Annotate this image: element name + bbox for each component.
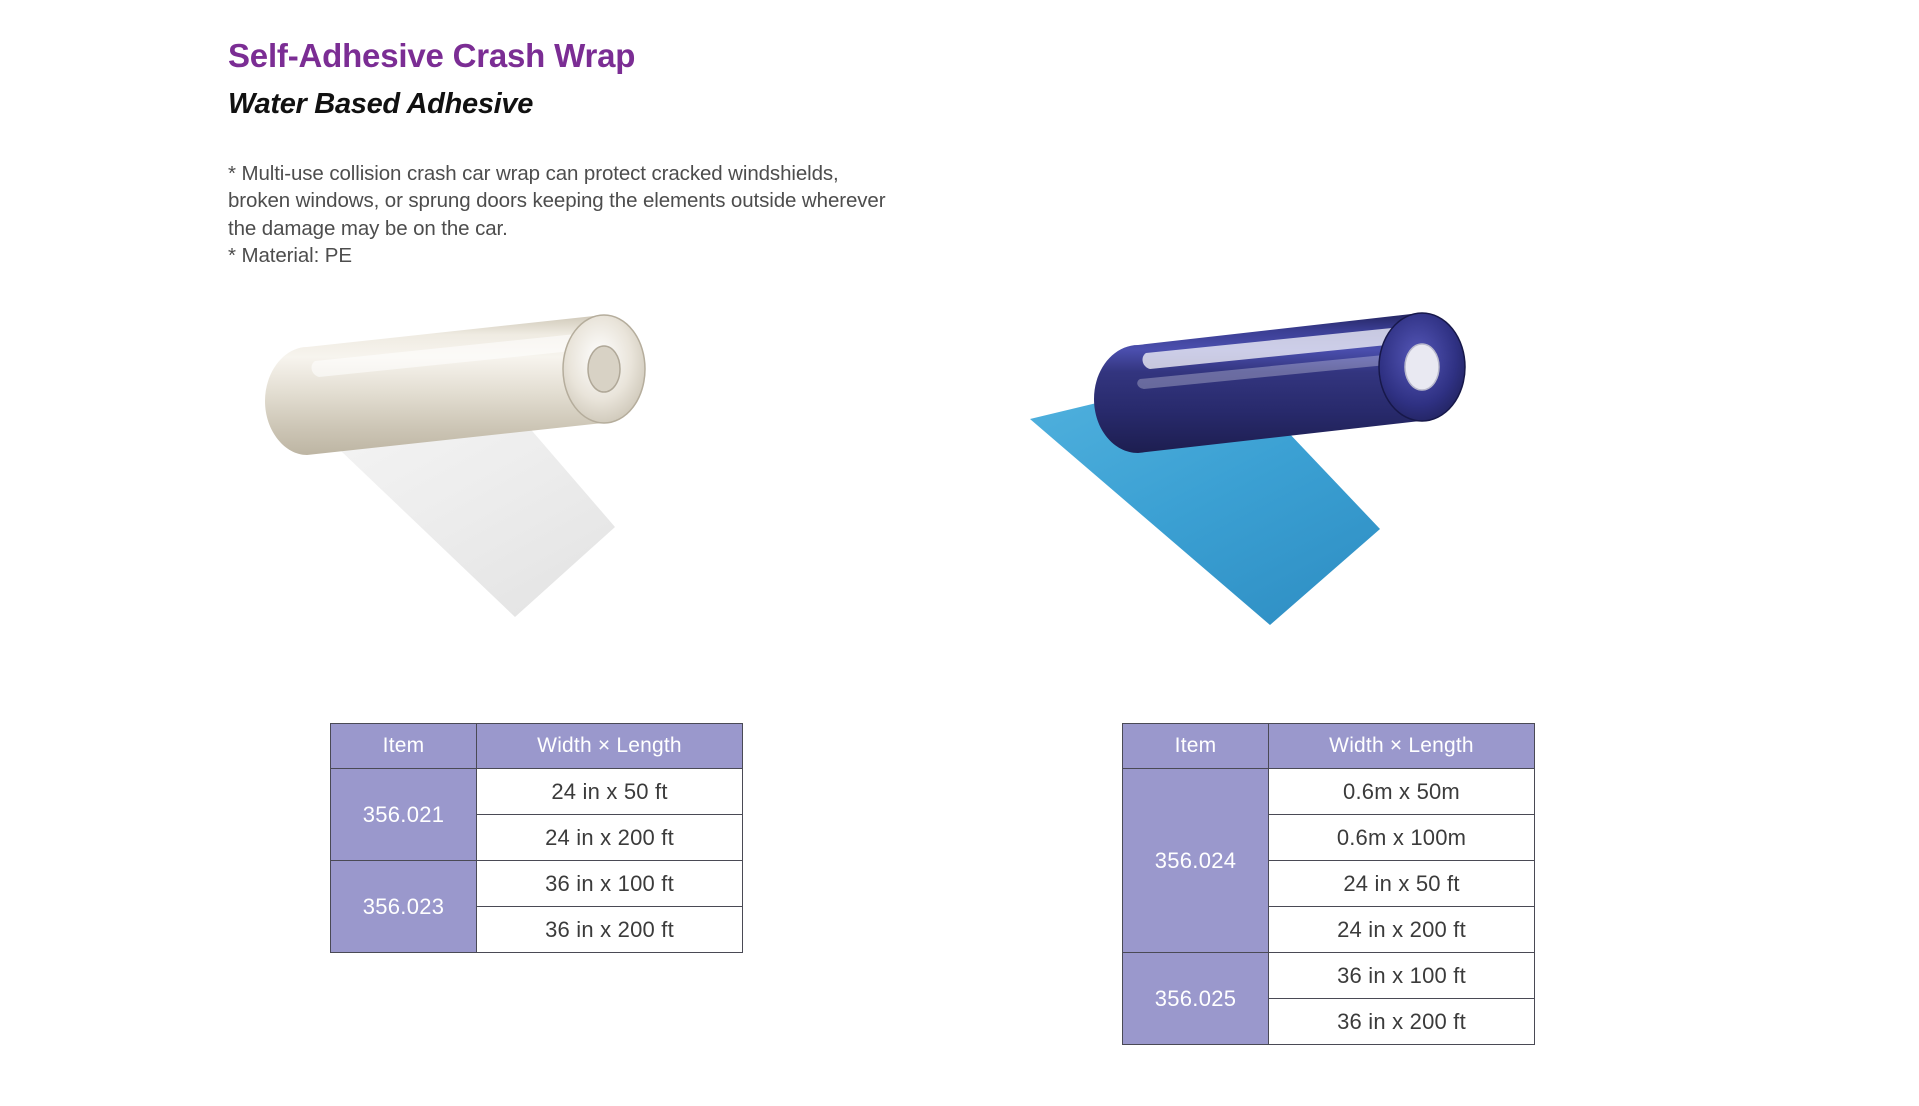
table-row: 356.025 36 in x 100 ft (1123, 953, 1535, 999)
table-row: 356.023 36 in x 100 ft (331, 861, 743, 907)
size-cell: 36 in x 200 ft (477, 907, 743, 953)
size-cell: 36 in x 100 ft (477, 861, 743, 907)
table-row: 356.021 24 in x 50 ft (331, 769, 743, 815)
table-row: 356.024 0.6m x 50m (1123, 769, 1535, 815)
size-cell: 24 in x 200 ft (477, 815, 743, 861)
item-number-cell: 356.021 (331, 769, 477, 861)
size-cell: 24 in x 50 ft (1269, 861, 1535, 907)
blue-roll-core (1405, 344, 1439, 390)
size-cell: 36 in x 200 ft (1269, 999, 1535, 1045)
clear-roll-core (588, 346, 620, 392)
table-header-row: Item Width × Length (1123, 724, 1535, 769)
blue-wrap-spec-table: Item Width × Length 356.024 0.6m x 50m 0… (1122, 723, 1535, 1045)
column-header-item: Item (1123, 724, 1269, 769)
size-cell: 36 in x 100 ft (1269, 953, 1535, 999)
item-number-cell: 356.023 (331, 861, 477, 953)
column-header-size: Width × Length (477, 724, 743, 769)
product-description: * Multi-use collision crash car wrap can… (228, 160, 1048, 270)
page-title: Self-Adhesive Crash Wrap (228, 38, 1048, 74)
product-subtitle: Water Based Adhesive (228, 88, 1048, 121)
product-image-clear-roll (215, 305, 835, 705)
item-number-cell: 356.024 (1123, 769, 1269, 953)
column-header-size: Width × Length (1269, 724, 1535, 769)
size-cell: 0.6m x 50m (1269, 769, 1535, 815)
size-cell: 24 in x 50 ft (477, 769, 743, 815)
product-header: Self-Adhesive Crash Wrap Water Based Adh… (228, 38, 1048, 270)
column-header-item: Item (331, 724, 477, 769)
product-image-blue-roll (1020, 305, 1640, 705)
table-header-row: Item Width × Length (331, 724, 743, 769)
clear-wrap-spec-table: Item Width × Length 356.021 24 in x 50 f… (330, 723, 743, 953)
item-number-cell: 356.025 (1123, 953, 1269, 1045)
size-cell: 24 in x 200 ft (1269, 907, 1535, 953)
size-cell: 0.6m x 100m (1269, 815, 1535, 861)
